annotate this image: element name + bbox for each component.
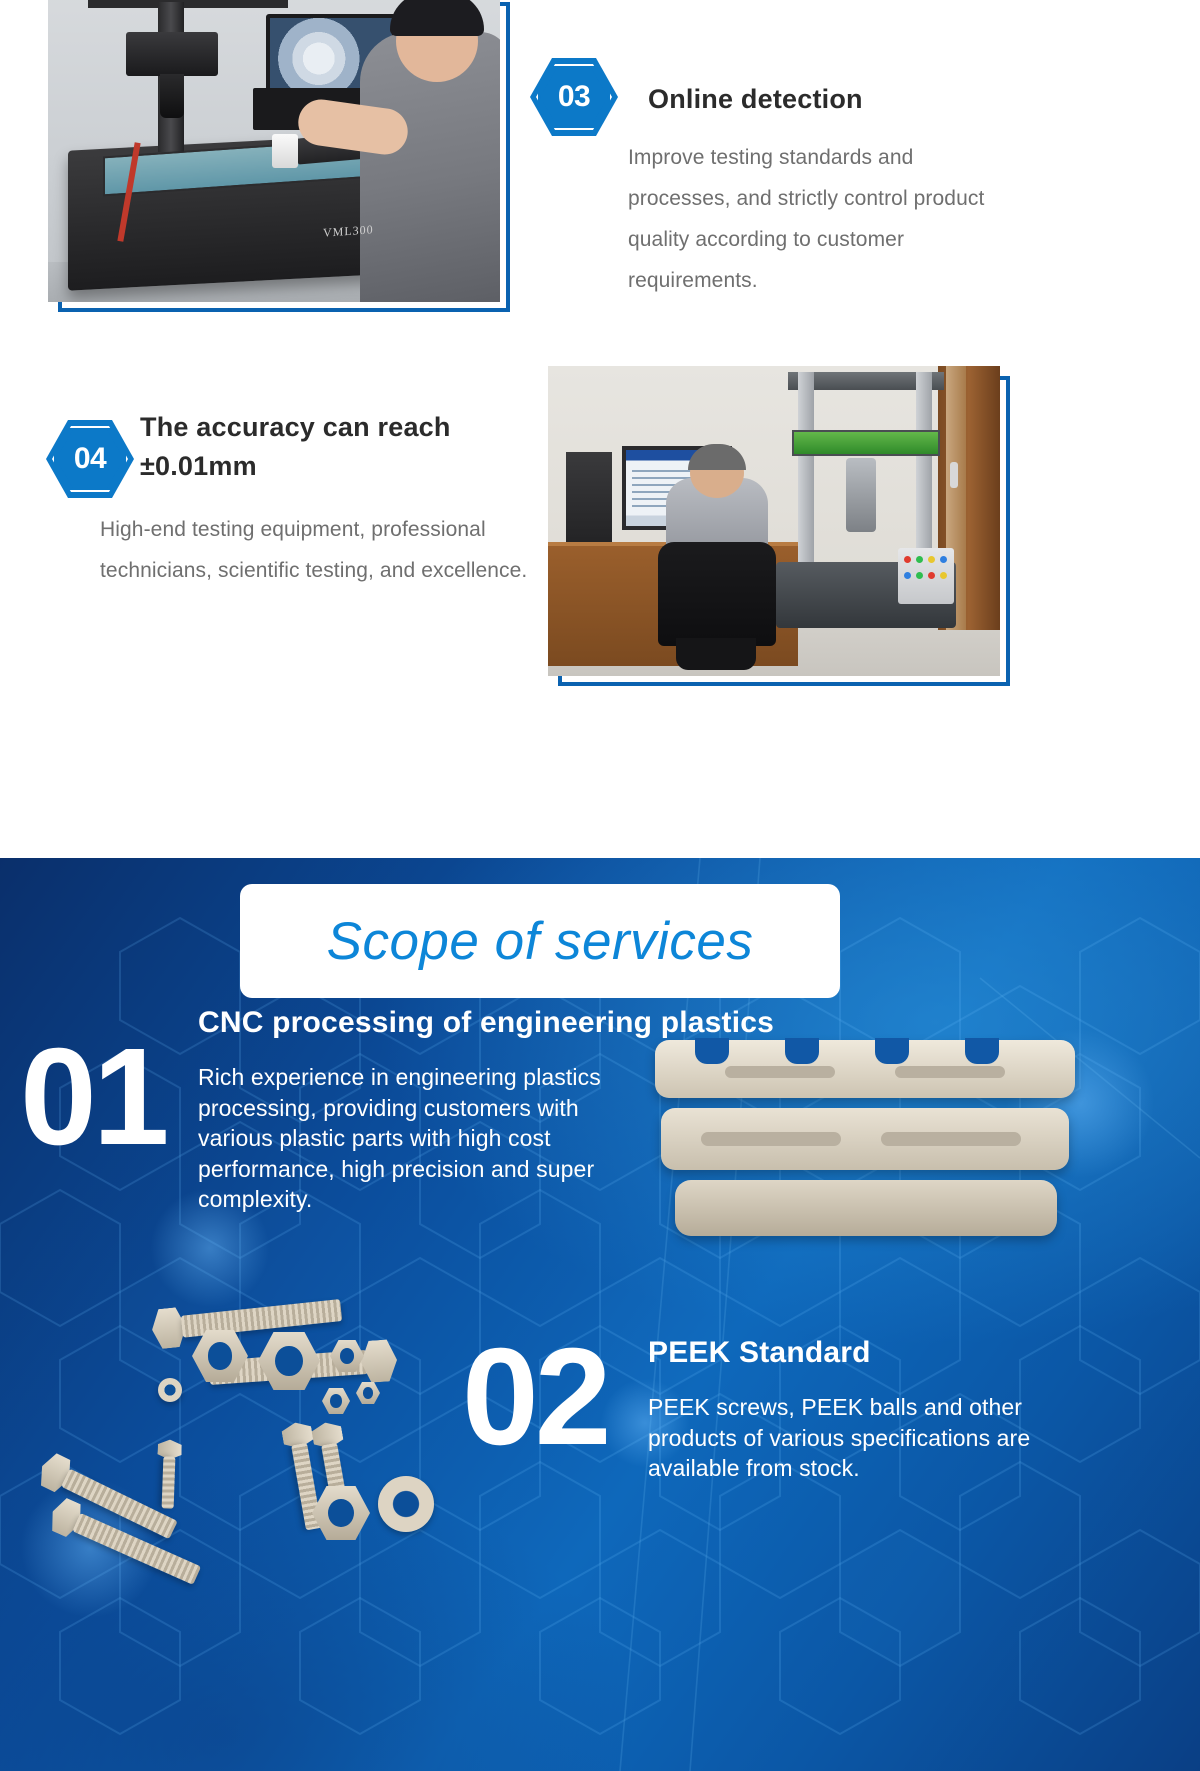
features-section: VML300 03 Online detection Improve testi… (0, 0, 1200, 858)
section-heading-card: Scope of services (240, 884, 840, 998)
led-yellow-icon (928, 556, 935, 563)
promo-page: VML300 03 Online detection Improve testi… (0, 0, 1200, 1771)
photo2-machine-grip (846, 458, 876, 532)
peek-screws-photo (40, 1270, 460, 1560)
led-green-icon (916, 572, 923, 579)
step-number-04: 04 (46, 420, 134, 498)
bolt-shaft (162, 1456, 176, 1508)
peek-nut (322, 1388, 350, 1414)
photo2-machine-green-bar (792, 430, 940, 456)
part-notch (965, 1038, 999, 1064)
step-badge-03: 03 (530, 58, 618, 136)
peek-nut (356, 1382, 380, 1404)
led-red-icon (904, 556, 911, 563)
plastic-part-row-middle (661, 1108, 1069, 1170)
part-slot (895, 1066, 1005, 1078)
peek-nut (312, 1486, 370, 1540)
service-title-01: CNC processing of engineering plastics (198, 1006, 958, 1040)
service-number-02: 02 (462, 1328, 608, 1466)
bolt-head (360, 1339, 399, 1383)
step-title-03: Online detection (648, 80, 1068, 119)
led-blue-icon (940, 556, 947, 563)
part-slot (725, 1066, 835, 1078)
service-body-02: PEEK screws, PEEK balls and other produc… (648, 1392, 1068, 1484)
page-title: Scope of services (327, 911, 754, 972)
led-blue-icon (904, 572, 911, 579)
service-title-02: PEEK Standard (648, 1336, 1068, 1370)
photo2-machine-column-right (916, 372, 932, 568)
photo1-lens (160, 74, 184, 118)
photo1-optical-head (126, 32, 218, 76)
engineering-plastic-part-photo (655, 1030, 1075, 1265)
photo2-control-panel (898, 548, 954, 604)
led-green-icon (916, 556, 923, 563)
peek-washer (158, 1378, 182, 1402)
step-body-03: Improve testing standards and processes,… (628, 138, 1018, 302)
peek-washer (378, 1476, 434, 1532)
part-notch (695, 1038, 729, 1064)
photo2-tensile-machine (784, 372, 948, 612)
photo-image-2 (548, 366, 1000, 676)
photo2-computer-tower (566, 452, 612, 548)
peek-nut (258, 1332, 320, 1390)
photo2-chair (658, 542, 776, 646)
part-slot (701, 1132, 841, 1146)
plastic-part-row-bottom (675, 1180, 1057, 1236)
photo-image-1: VML300 (48, 0, 500, 302)
photo1-measured-part (272, 134, 298, 168)
led-yellow-icon (940, 572, 947, 579)
service-body-01: Rich experience in engineering plastics … (198, 1062, 628, 1215)
photo2-chair-base (676, 638, 756, 670)
tensile-testing-photo (548, 366, 1000, 676)
step-body-04: High-end testing equipment, professional… (100, 510, 530, 592)
photo1-operator-cap (390, 0, 484, 36)
photo1-top-rail (88, 0, 288, 8)
step-number-03: 03 (530, 58, 618, 136)
part-slot (881, 1132, 1021, 1146)
photo2-machine-column-left (798, 372, 814, 568)
service-number-01: 01 (20, 1028, 166, 1166)
led-red-icon (928, 572, 935, 579)
photo2-door-handle (950, 462, 958, 488)
part-notch (875, 1038, 909, 1064)
online-detection-photo: VML300 (48, 0, 500, 302)
part-notch (785, 1038, 819, 1064)
step-badge-04: 04 (46, 420, 134, 498)
step-title-04: The accuracy can reach ±0.01mm (140, 408, 510, 486)
plastic-part-row-top (655, 1040, 1075, 1098)
